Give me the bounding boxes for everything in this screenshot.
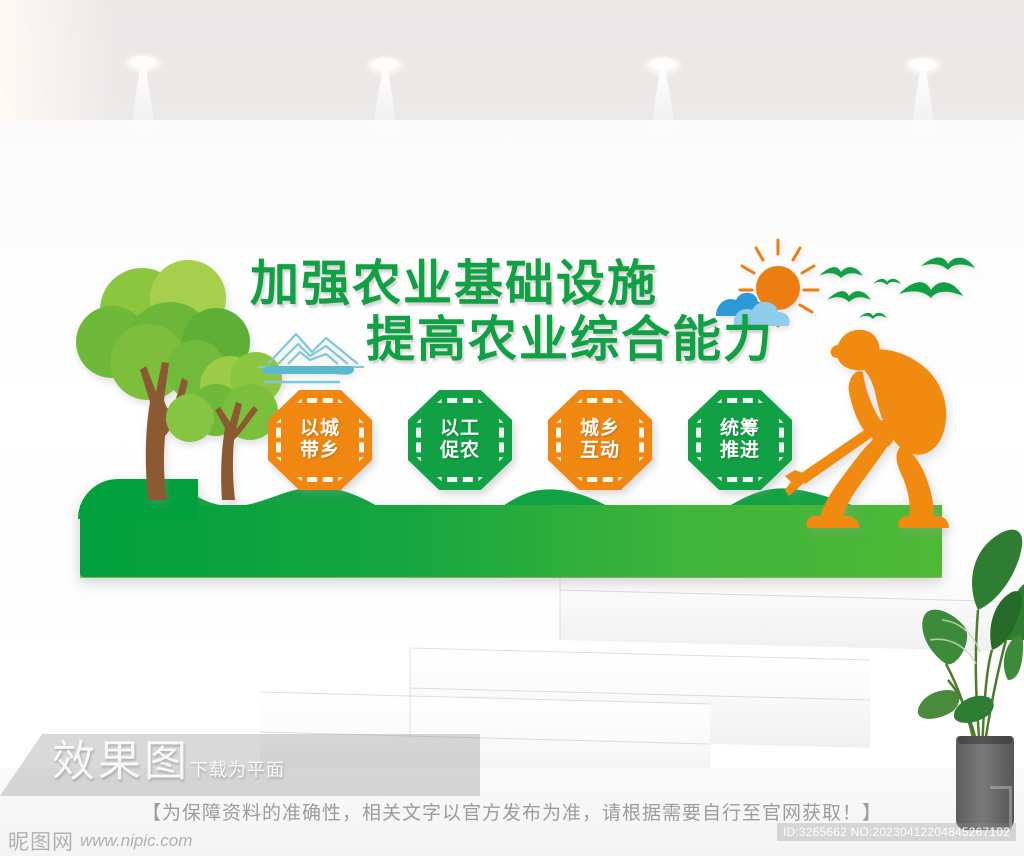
badge-text: 城乡 互动 xyxy=(548,390,652,490)
badge-line-2: 促农 xyxy=(440,440,480,462)
potted-plant-icon xyxy=(912,500,1024,830)
badge-line-1: 统筹 xyxy=(720,418,760,440)
watermark-subtitle: 下载为平面 xyxy=(190,760,285,780)
badge-text: 统筹 推进 xyxy=(688,390,792,490)
badge-line-1: 以城 xyxy=(300,418,340,440)
badge-line-2: 带乡 xyxy=(300,440,340,462)
slogan-badge[interactable]: 以城 带乡 xyxy=(268,390,372,490)
site-url: www.nipic.com xyxy=(80,831,192,851)
ceiling-light-icon xyxy=(646,58,680,74)
watermark-disclaimer: 【为保障资料的准确性，相关文字以官方发布为准，请根据需要自行至官网获取！】 xyxy=(0,798,1024,825)
headline-block: 加强农业基础设施 提高农业综合能力 xyxy=(250,256,820,368)
screenshot-stage: 加强农业基础设施 提高农业综合能力 以城 带乡 以工 促农 xyxy=(0,0,1024,856)
badge-line-2: 互动 xyxy=(580,440,620,462)
badge-text: 以工 促农 xyxy=(408,390,512,490)
badge-line-1: 以工 xyxy=(440,418,480,440)
watermark-title: 效果图下载为平面 xyxy=(52,736,285,796)
site-name-cn: 昵图网 xyxy=(8,826,74,856)
badge-text: 以城 带乡 xyxy=(268,390,372,490)
headline-line-1: 加强农业基础设施 xyxy=(250,256,820,312)
wall-art-board: 加强农业基础设施 提高农业综合能力 以城 带乡 以工 促农 xyxy=(70,230,950,580)
ceiling-light-icon xyxy=(126,56,160,72)
slogan-badges: 以城 带乡 以工 促农 城乡 互动 xyxy=(268,390,828,490)
headline-line-2: 提高农业综合能力 xyxy=(366,312,820,368)
slogan-badge[interactable]: 以工 促农 xyxy=(408,390,512,490)
watermark-id: ID:3265662 NO:20230412204845267102 xyxy=(777,823,1016,841)
badge-line-2: 推进 xyxy=(720,440,760,462)
watermark-title-text: 效果图 xyxy=(52,738,190,786)
slogan-badge[interactable]: 城乡 互动 xyxy=(548,390,652,490)
watermark-logo: 昵图网 www.nipic.com xyxy=(8,826,192,856)
ceiling-light-icon xyxy=(368,58,402,74)
slogan-badge[interactable]: 统筹 推进 xyxy=(688,390,792,490)
badge-line-1: 城乡 xyxy=(580,418,620,440)
ceiling-light-icon xyxy=(906,58,940,74)
